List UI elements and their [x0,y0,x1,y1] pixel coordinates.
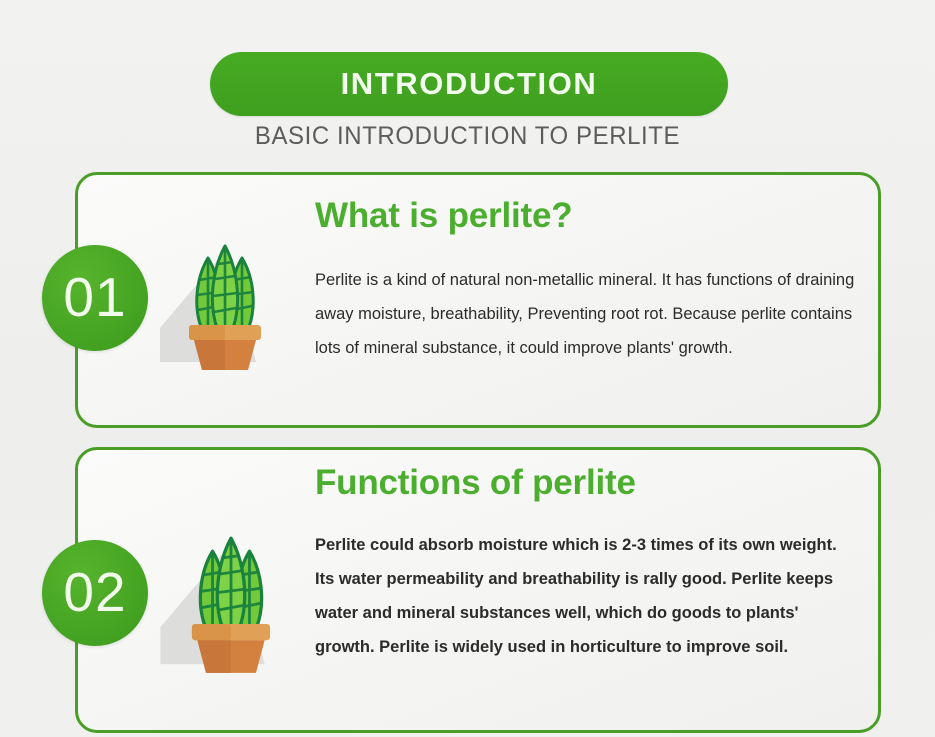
pot-rim-shade [192,624,231,640]
section-number-label: 01 [42,245,148,351]
pot-body-shade [194,340,225,370]
section-heading-2: Functions of perlite [315,463,636,503]
section-body-1: Perlite is a kind of natural non-metalli… [315,263,865,365]
section-number-label: 02 [42,540,148,646]
leaf-center [212,246,237,333]
section-heading-1: What is perlite? [315,196,572,236]
leaf-center [217,538,244,633]
section-number-badge-2: 02 [42,540,148,646]
pot-body-shade [197,640,231,673]
potted-snake-plant-icon [160,523,302,675]
introduction-title-pill: INTRODUCTION [210,52,728,116]
section-body-2: Perlite could absorb moisture which is 2… [315,528,860,664]
page-subtitle: BASIC INTRODUCTION TO PERLITE [19,122,917,151]
page-title: INTRODUCTION [210,52,728,116]
section-number-badge-1: 01 [42,245,148,351]
pot-rim-shade [189,325,225,340]
potted-snake-plant-icon [160,232,290,372]
